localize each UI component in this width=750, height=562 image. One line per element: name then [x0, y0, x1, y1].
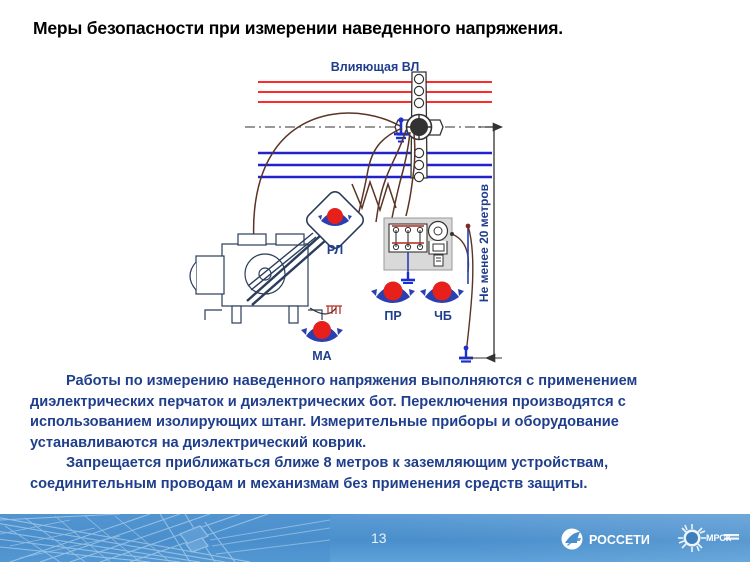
body-line-5: Запрещается приближаться ближе 8 метров … — [30, 453, 722, 474]
influencing-line-conductors — [258, 82, 492, 102]
marker-cb — [420, 282, 464, 304]
distance-label: Не менее 20 метров — [477, 184, 491, 302]
page-title: Меры безопасности при измерении наведенн… — [33, 18, 563, 39]
marker-ma-label: МА — [312, 349, 331, 363]
overhead-line-label: Влияющая ВЛ — [331, 60, 420, 74]
mrsk-logo: МРСК — [676, 522, 742, 554]
marker-pr — [371, 282, 415, 304]
marker-pr-label: ПР — [384, 309, 401, 323]
slide-canvas: Меры безопасности при измерении наведенн… — [0, 0, 750, 562]
measuring-panel — [384, 218, 452, 280]
marker-rl-label: РЛ — [327, 243, 343, 257]
measured-line-conductors — [258, 153, 492, 177]
body-text: Работы по измерению наведенного напряжен… — [30, 371, 722, 495]
body-line-6: соединительным проводам и механизмам без… — [30, 474, 722, 495]
body-line-4: устанавливаются на диэлектрический коври… — [30, 433, 722, 454]
cb-measurement-wire — [450, 224, 473, 354]
safety-diagram: Влияющая ВЛ РЛ ПР ЧБ МА Не менее 20 метр… — [0, 58, 750, 368]
page-number: 13 — [371, 530, 387, 546]
rosseti-logo: РОССЕТИ — [561, 527, 653, 551]
marker-ma — [301, 321, 343, 342]
body-line-1: Работы по измерению наведенного напряжен… — [30, 371, 722, 392]
marker-cb-label: ЧБ — [434, 309, 452, 323]
pr-ground-symbol — [401, 272, 415, 283]
body-line-2: диэлектрических перчаток и диэлектрическ… — [30, 392, 722, 413]
body-line-3: использованием изолирующих штанг. Измери… — [30, 412, 722, 433]
tower-lattice-decoration — [0, 500, 330, 562]
lower-ground-symbol — [459, 346, 473, 362]
rosseti-logo-text: РОССЕТИ — [589, 533, 650, 547]
